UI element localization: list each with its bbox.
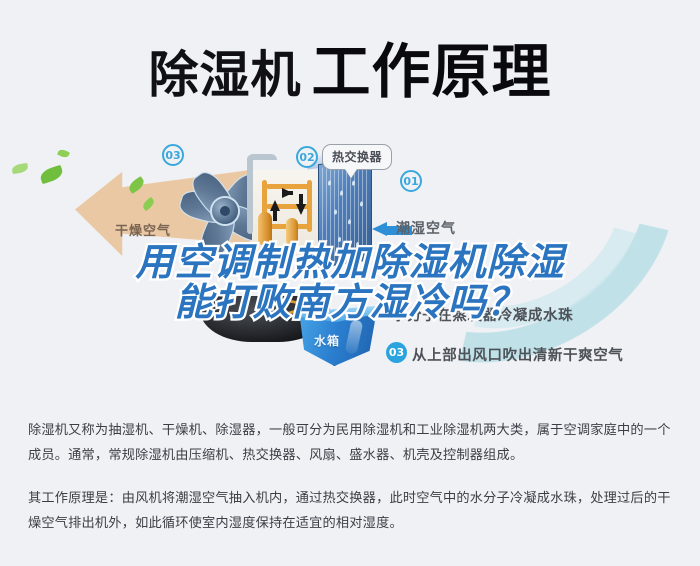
page-title: 除湿机工作原理: [0, 24, 700, 109]
dry-air-label: 干燥空气: [115, 220, 171, 239]
body-paragraph-2: 其工作原理是：由风机将潮湿空气抽入机内，通过热交换器，此时空气中的水分子冷凝成水…: [28, 486, 672, 536]
flow-arrow-right-icon: [282, 188, 293, 198]
page-title-part2: 工作原理: [311, 37, 551, 106]
leaf-icon: [57, 148, 70, 159]
article-body: 除湿机又称为抽湿机、干燥机、除湿器，一般可分为民用除湿机和工业除湿机两大类，属于…: [0, 418, 700, 536]
humid-air-label: 潮湿空气: [396, 218, 456, 238]
pipe-icon: [247, 154, 277, 160]
flow-arrow-up-icon: [270, 200, 280, 211]
step-badge-03-caption: 03: [386, 342, 407, 363]
leaf-icon: [39, 165, 65, 184]
heat-exchanger-callout-label: 热交换器: [332, 150, 382, 164]
infographic-page: 除湿机工作原理 干燥空气: [0, 0, 700, 566]
overlay-headline: 用空调制热加除湿机除湿 能打败南方湿冷吗？: [0, 242, 700, 323]
overlay-headline-line2: 能打败南方湿冷吗？: [0, 282, 700, 322]
step-badge-03-top: 03: [162, 144, 184, 166]
water-tank-label: 水箱: [314, 332, 340, 349]
step-badge-02: 02: [296, 146, 318, 168]
leaf-icon: [11, 163, 28, 174]
page-title-part1: 除湿机: [148, 46, 301, 104]
flow-arrow-down-icon: [296, 204, 306, 215]
pipe-icon: [247, 156, 253, 234]
heat-exchanger-callout: 热交换器: [322, 144, 392, 170]
caption-step-03: 从上部出风口吹出清新干爽空气: [412, 344, 623, 365]
overlay-headline-line1: 用空调制热加除湿机除湿: [0, 242, 700, 282]
pipe-icon: [307, 180, 312, 232]
step-badge-01: 01: [400, 170, 422, 192]
body-paragraph-1: 除湿机又称为抽湿机、干燥机、除湿器，一般可分为民用除湿机和工业除湿机两大类，属于…: [28, 418, 672, 468]
callout-tail-icon: [345, 169, 357, 178]
